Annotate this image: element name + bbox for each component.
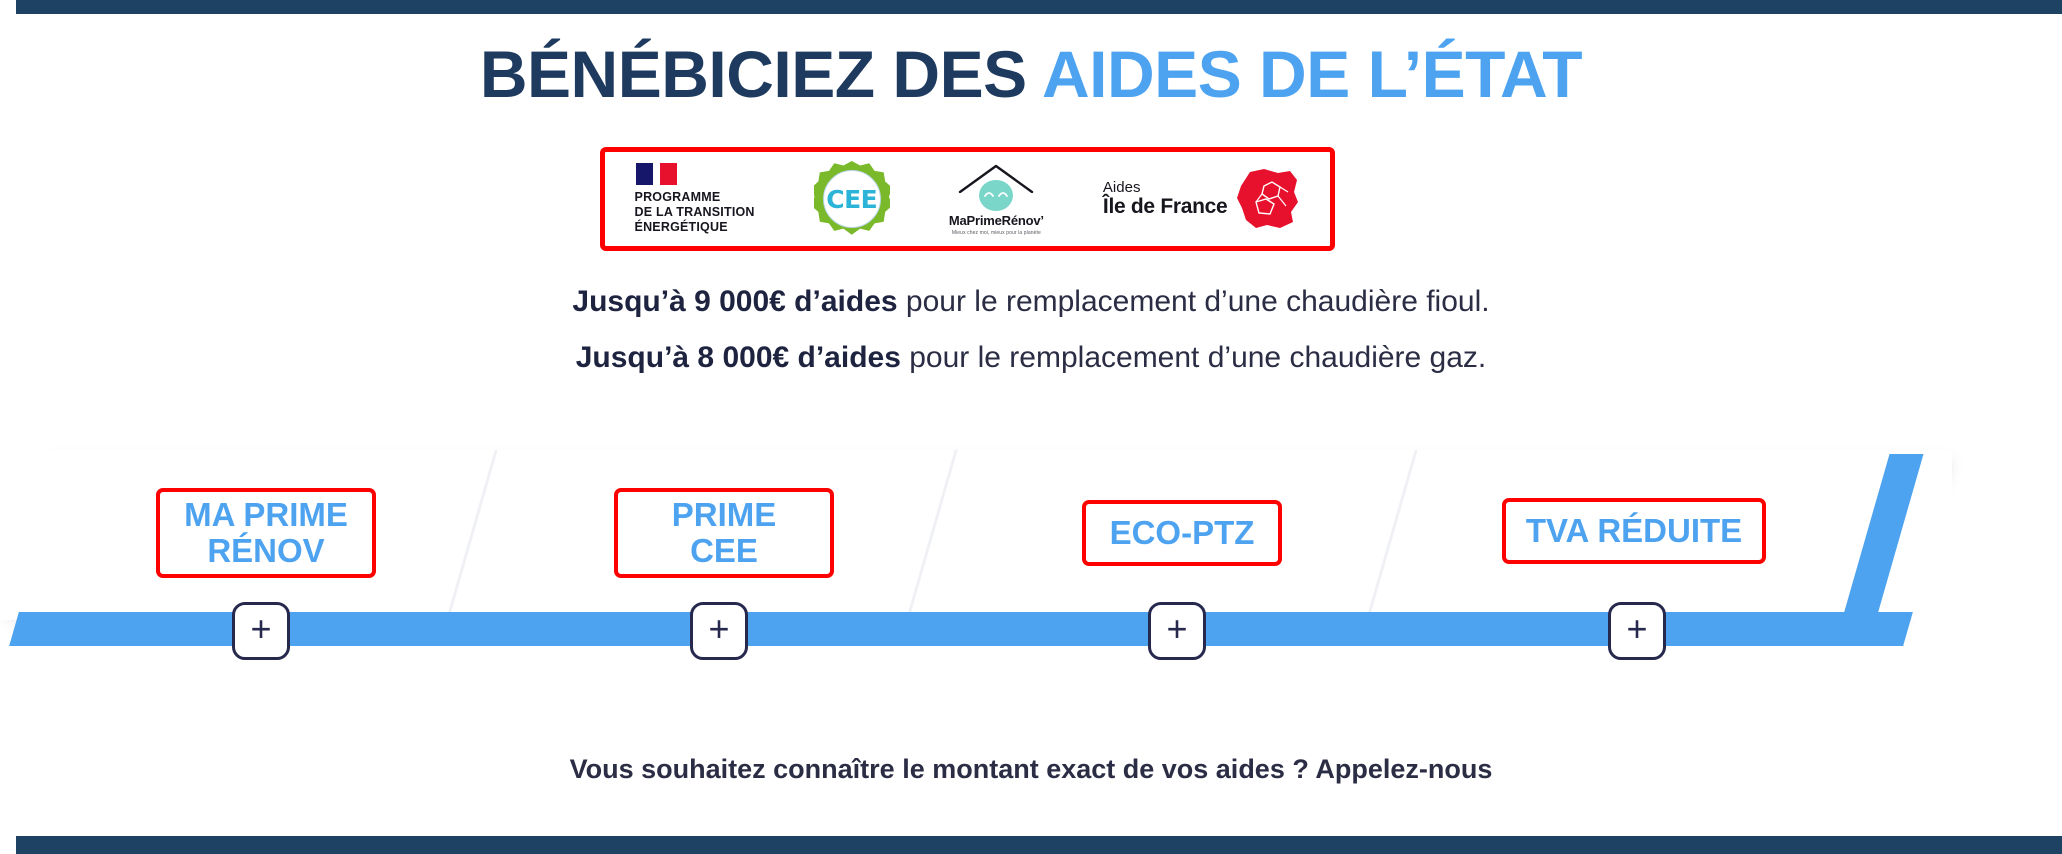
- logo-programme-transition-energetique: PROGRAMME DE LA TRANSITION ÉNERGÉTIQUE: [635, 152, 755, 246]
- logo-programme-line1: PROGRAMME: [635, 190, 755, 205]
- logo-maprimerenov: MaPrimeRénov’ Mieux chez moi, mieux pour…: [949, 152, 1044, 246]
- page-title-blue-part: AIDES DE L’ÉTAT: [1042, 37, 1582, 111]
- aides-etat-section: BÉNÉBICIEZ DES AIDES DE L’ÉTAT PROGRAMME…: [0, 0, 2062, 854]
- aid-amount-fioul-text: pour le remplacement d’une chaudière fio…: [898, 285, 1490, 318]
- expand-button-ma-prime-renov[interactable]: +: [232, 602, 290, 660]
- expand-button-tva-reduite[interactable]: +: [1608, 602, 1666, 660]
- segment-divider: [445, 450, 497, 620]
- bottom-navy-rule: [16, 836, 2062, 854]
- smiling-eyes-icon: [984, 190, 1008, 198]
- aid-badge-ma-prime-renov[interactable]: MA PRIME RÉNOV: [156, 488, 376, 578]
- expand-button-eco-ptz[interactable]: +: [1148, 602, 1206, 660]
- page-title: BÉNÉBICIEZ DES AIDES DE L’ÉTAT: [0, 40, 2062, 109]
- idf-aides-label: Aides: [1103, 180, 1228, 197]
- french-flag-icon: [636, 163, 677, 185]
- cee-badge-icon: CEE: [814, 161, 890, 237]
- maprimerenov-name: MaPrimeRénov’: [949, 213, 1044, 228]
- expand-button-prime-cee[interactable]: +: [690, 602, 748, 660]
- logo-cee: CEE: [814, 152, 890, 246]
- logo-programme-line2: DE LA TRANSITION: [635, 205, 755, 220]
- page-title-dark-part: BÉNÉBICIEZ DES: [480, 37, 1042, 111]
- logo-programme-line3: ÉNERGÉTIQUE: [635, 220, 755, 235]
- aid-badge-prime-cee[interactable]: PRIME CEE: [614, 488, 834, 578]
- ile-de-france-map-icon: [1234, 168, 1300, 230]
- top-navy-rule: [16, 0, 2062, 14]
- cee-label: CEE: [826, 185, 877, 214]
- logo-aides-ile-de-france: Aides Île de France: [1103, 152, 1301, 246]
- logo-programme-text: PROGRAMME DE LA TRANSITION ÉNERGÉTIQUE: [635, 190, 755, 236]
- segment-divider: [905, 450, 957, 620]
- aid-amount-gaz-text: pour le remplacement d’une chaudière gaz…: [901, 341, 1486, 374]
- call-us-cta: Vous souhaitez connaître le montant exac…: [0, 754, 2062, 785]
- aid-amount-line-fioul: Jusqu’à 9 000€ d’aides pour le remplacem…: [0, 285, 2062, 319]
- partner-logo-strip: PROGRAMME DE LA TRANSITION ÉNERGÉTIQUE C…: [600, 147, 1335, 251]
- maprimerenov-tagline: Mieux chez moi, mieux pour la planète: [952, 230, 1041, 236]
- aid-badge-eco-ptz[interactable]: ECO-PTZ: [1082, 500, 1282, 566]
- segment-divider: [1365, 450, 1417, 620]
- maprimerenov-house-icon: [958, 163, 1034, 211]
- aid-badge-tva-reduite[interactable]: TVA RÉDUITE: [1502, 498, 1766, 564]
- aid-amount-gaz-value: Jusqu’à 8 000€ d’aides: [576, 341, 901, 374]
- aid-amount-line-gaz: Jusqu’à 8 000€ d’aides pour le remplacem…: [0, 341, 2062, 375]
- aid-amount-fioul-value: Jusqu’à 9 000€ d’aides: [572, 285, 897, 318]
- idf-region-label: Île de France: [1103, 196, 1228, 218]
